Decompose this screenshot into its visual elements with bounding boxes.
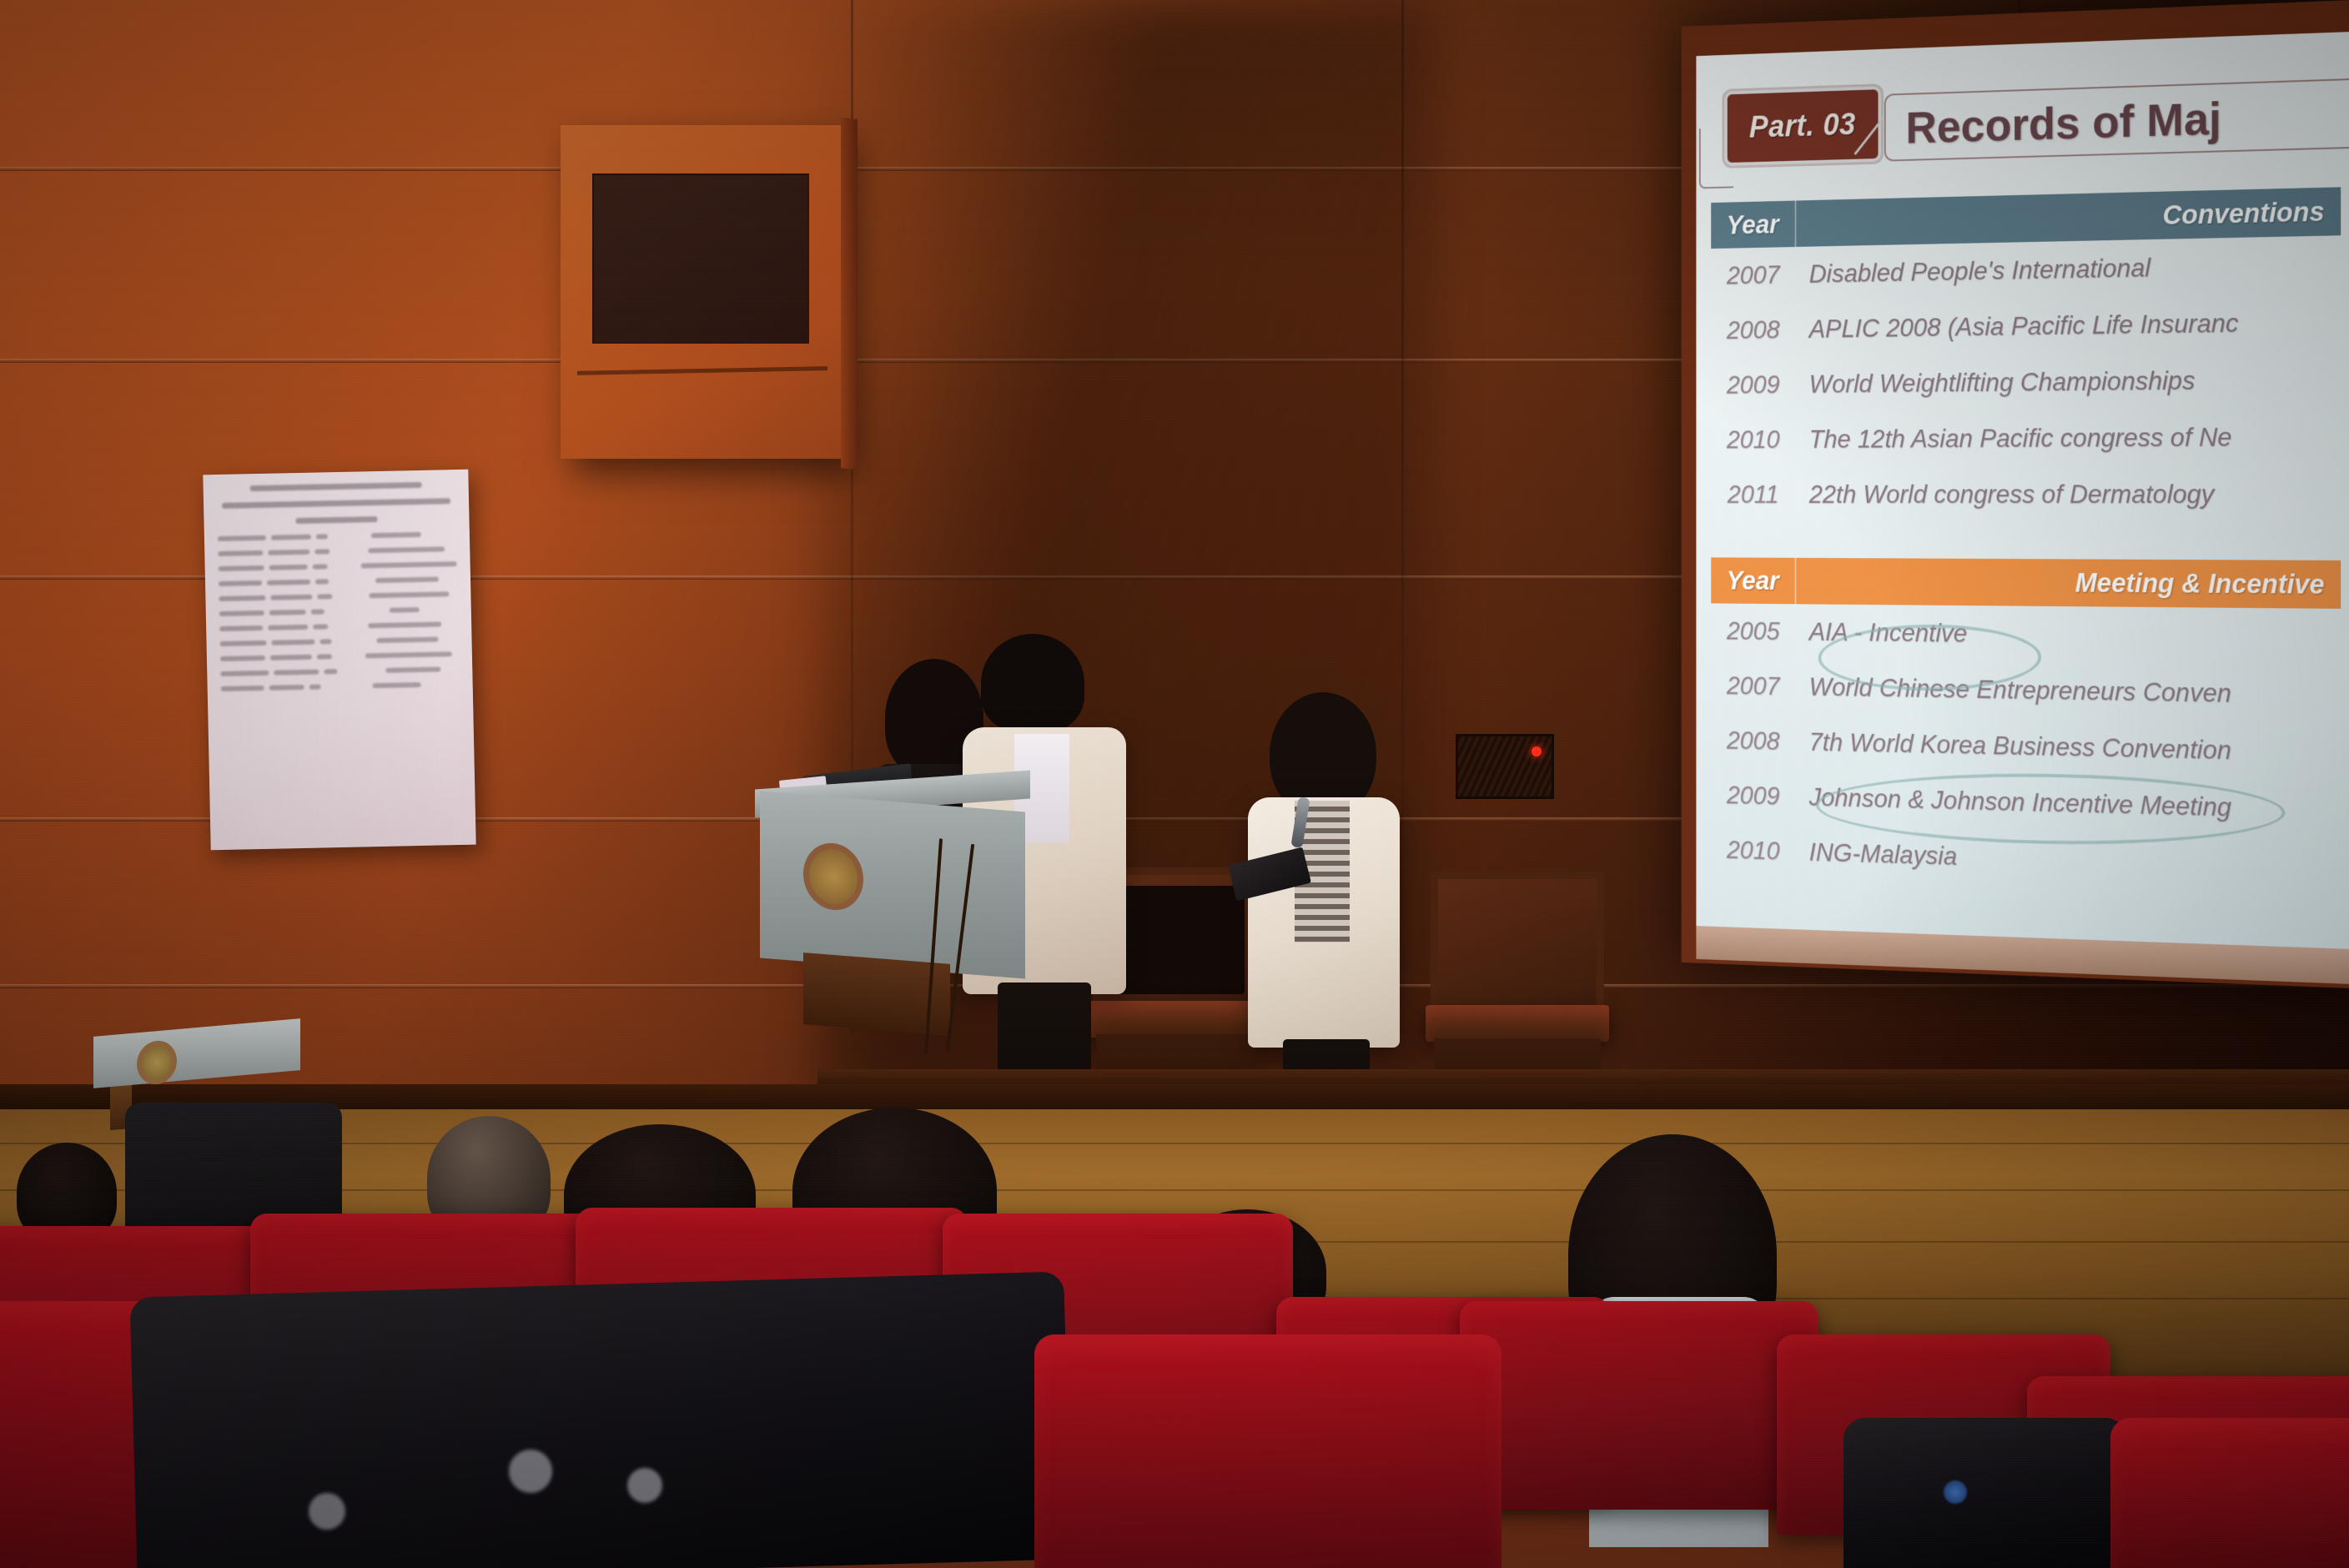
seat-headrest-foreground bbox=[1843, 1418, 2127, 1568]
cell-name: World Chinese Entrepreneurs Conven bbox=[1795, 659, 2341, 724]
cell-year: 2008 bbox=[1711, 712, 1795, 769]
cell-name: Disabled People's International bbox=[1795, 235, 2341, 302]
conventions-table: Year Conventions 2007 Disabled People's … bbox=[1711, 187, 2341, 523]
monitor-screen-icon bbox=[592, 173, 809, 344]
cell-year: 2009 bbox=[1711, 357, 1795, 413]
wall-monitor-box bbox=[561, 125, 844, 459]
cell-year: 2007 bbox=[1711, 658, 1795, 714]
cell-year: 2005 bbox=[1711, 603, 1795, 659]
cell-year: 2010 bbox=[1711, 822, 1795, 879]
cell-year: 2009 bbox=[1711, 767, 1795, 824]
meeting-incentive-table: Year Meeting & Incentive 2005 AIA - Ince… bbox=[1711, 557, 2341, 896]
speaker-grille-panel bbox=[1456, 734, 1554, 799]
cell-year: 2007 bbox=[1711, 247, 1795, 304]
power-led-icon bbox=[1532, 746, 1542, 756]
cell-name: APLIC 2008 (Asia Pacific Life Insuranc bbox=[1795, 293, 2341, 357]
cell-year: 2011 bbox=[1711, 467, 1795, 522]
table-row: 2008 APLIC 2008 (Asia Pacific Life Insur… bbox=[1711, 293, 2341, 358]
column-header-meeting: Meeting & Incentive bbox=[1795, 558, 2341, 609]
slide-title-box: Records of Maj bbox=[1884, 78, 2349, 162]
conference-hall-photo: Part. 03 Records of Maj Year Conventions bbox=[0, 0, 2349, 1568]
page-title: Records of Maj bbox=[1906, 91, 2221, 153]
cell-year: 2010 bbox=[1711, 412, 1795, 467]
column-header-year: Year bbox=[1711, 201, 1795, 249]
slide-header: Part. 03 Records of Maj bbox=[1717, 60, 2342, 175]
cell-name: 22th World congress of Dermatology bbox=[1795, 465, 2341, 523]
cell-name: AIA - Incentive bbox=[1795, 604, 2341, 666]
presentation-slide: Part. 03 Records of Maj Year Conventions bbox=[1696, 32, 2349, 949]
table-row: 2011 22th World congress of Dermatology bbox=[1711, 465, 2341, 523]
projection-screen: Part. 03 Records of Maj Year Conventions bbox=[1682, 0, 2349, 1001]
table-row: 2010 The 12th Asian Pacific congress of … bbox=[1711, 408, 2341, 467]
column-header-year: Year bbox=[1711, 557, 1795, 604]
table-row: 2009 World Weightlifting Championships bbox=[1711, 350, 2341, 412]
table-header-row: Year Meeting & Incentive bbox=[1711, 557, 2341, 609]
cell-name: World Weightlifting Championships bbox=[1795, 350, 2341, 412]
auditorium-seat-foreground bbox=[1034, 1334, 1501, 1568]
auditorium-seat bbox=[1460, 1301, 1818, 1510]
stage-edge bbox=[0, 1084, 2349, 1113]
cell-name: The 12th Asian Pacific congress of Ne bbox=[1795, 408, 2341, 467]
part-label: Part. 03 bbox=[1749, 108, 1856, 145]
auditorium-seat-foreground bbox=[2110, 1418, 2349, 1568]
speaker-podium bbox=[755, 780, 1030, 1022]
cell-year: 2008 bbox=[1711, 302, 1795, 358]
seat-headrest-foreground bbox=[129, 1271, 1071, 1568]
table-row: 2005 AIA - Incentive bbox=[1711, 603, 2341, 666]
wall-notice-sheet bbox=[203, 470, 475, 851]
